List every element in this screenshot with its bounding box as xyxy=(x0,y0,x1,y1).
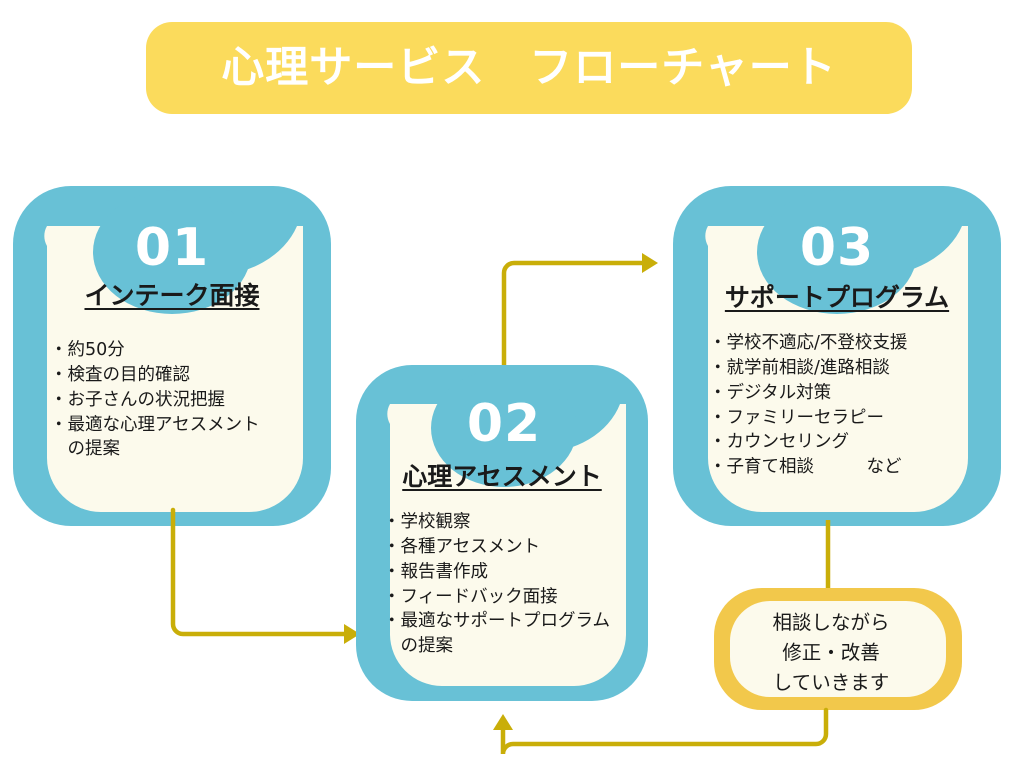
step-03-heading: サポートプログラム xyxy=(694,284,980,312)
step-03-list: ・学校不適応/不登校支援 ・就学前相談/進路相談 ・デジタル対策 ・ファミリーセ… xyxy=(709,331,991,480)
note-line: 修正・改善 xyxy=(726,638,936,668)
list-item: ・お子さんの状況把握 xyxy=(50,388,322,413)
arrowhead-icon xyxy=(642,253,658,273)
list-item: ・学校観察 xyxy=(383,510,653,535)
list-item: ・ファミリーセラピー xyxy=(709,406,991,431)
list-item: ・約50分 xyxy=(50,338,322,363)
step-02-heading: 心理アセスメント xyxy=(363,463,641,491)
step-03-number: 03 xyxy=(777,222,897,274)
page-title: 心理サービス フローチャート xyxy=(221,47,837,90)
list-item: ・就学前相談/進路相談 xyxy=(709,356,991,381)
list-item: ・学校不適応/不登校支援 xyxy=(709,331,991,356)
list-item: ・カウンセリング xyxy=(709,430,991,455)
step-02-list: ・学校観察 ・各種アセスメント ・報告書作成 ・フィードバック面接 ・最適なサポ… xyxy=(383,510,653,659)
step-01-number: 01 xyxy=(112,222,232,274)
arrowhead-icon xyxy=(493,714,513,730)
step-01-heading: インテーク面接 xyxy=(31,282,313,310)
list-item: の提案 xyxy=(50,437,322,462)
list-item: ・検査の目的確認 xyxy=(50,363,322,388)
list-item: ・フィードバック面接 xyxy=(383,585,653,610)
list-item: ・最適なサポートプログラム xyxy=(383,609,653,634)
note-line: 相談しながら xyxy=(726,608,936,638)
list-item: ・各種アセスメント xyxy=(383,535,653,560)
step-02-number: 02 xyxy=(444,398,564,450)
connector-note-to-step2 xyxy=(493,710,826,754)
list-item: ・デジタル対策 xyxy=(709,381,991,406)
step-01-list: ・約50分 ・検査の目的確認 ・お子さんの状況把握 ・最適な心理アセスメント の… xyxy=(50,338,322,462)
list-item: ・報告書作成 xyxy=(383,560,653,585)
list-item: の提案 xyxy=(383,634,653,659)
connector-step2-to-step3 xyxy=(504,253,658,372)
list-item: ・子育て相談 など xyxy=(709,455,991,480)
page-title-banner: 心理サービス フローチャート xyxy=(146,22,912,114)
feedback-note: 相談しながら 修正・改善 していきます xyxy=(726,608,936,699)
list-item: ・最適な心理アセスメント xyxy=(50,413,322,438)
connector-step1-to-step2 xyxy=(173,510,360,644)
note-line: していきます xyxy=(726,668,936,698)
